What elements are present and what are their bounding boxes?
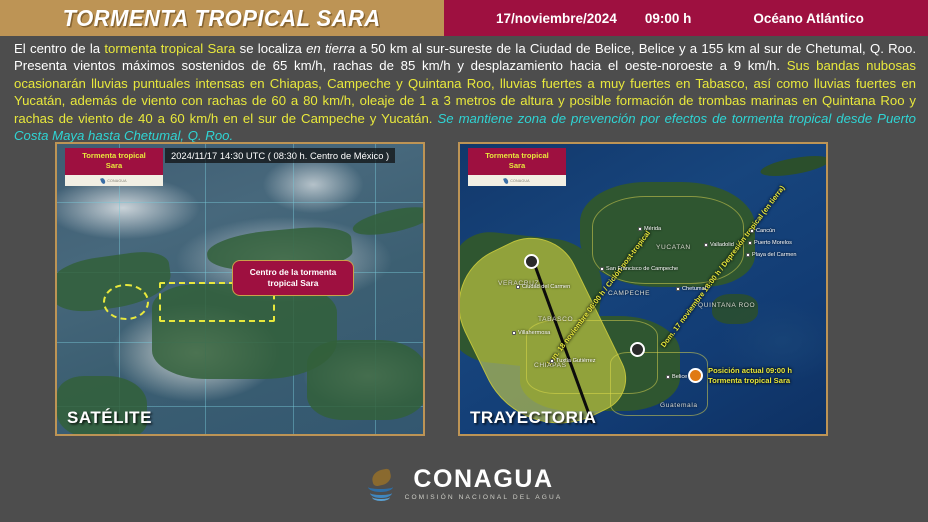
city-label-belice: Belice	[672, 374, 687, 380]
header-title-band: TORMENTA TROPICAL SARA	[0, 0, 444, 36]
city-label-valladolid: Valladolid	[710, 242, 734, 248]
trajectory-map: Lun. 18 noviembre 06:00 h / Ciclón post-…	[460, 144, 826, 434]
city-label-chetumal: Chetumal	[682, 286, 706, 292]
city-label-playa-del-carmen: Playa del Carmen	[752, 252, 796, 258]
satellite-panel[interactable]: Centro de la tormenta tropical Sara Torm…	[55, 142, 425, 436]
bulletin-text: El centro de la tormenta tropical Sara s…	[14, 40, 916, 144]
bulletin-segment-3: se localiza	[235, 41, 306, 56]
city-label-tuxtla-gutierrez: Tuxtla Gutiérrez	[556, 358, 596, 364]
bulletin-basin: Océano Atlántico	[753, 11, 864, 26]
current-position-line1: Posición actual 09:00 h	[708, 366, 792, 376]
footer-bar: CONAGUA COMISIÓN NACIONAL DEL AGUA	[0, 452, 928, 522]
forecast-node-tropical-depression	[630, 342, 645, 357]
satellite-badge-org: CONAGUA	[107, 179, 127, 183]
water-drop-icon	[503, 177, 509, 184]
current-position-line2: Tormenta tropical Sara	[708, 376, 792, 386]
current-position-node	[688, 368, 703, 383]
city-label-san-francisco-de-campeche: San Francisco de Campeche	[606, 266, 678, 272]
forecast-node-post-tropical	[524, 254, 539, 269]
region-label-quintana-roo: QUINTANA ROO	[698, 302, 755, 309]
bulletin-date: 17/noviembre/2024	[496, 11, 617, 26]
satellite-caption: SATÉLITE	[67, 408, 152, 428]
conagua-logo-subtitle: COMISIÓN NACIONAL DEL AGUA	[405, 494, 563, 501]
conagua-logo-name: CONAGUA	[413, 466, 553, 493]
trajectory-badge-org: CONAGUA	[510, 179, 530, 183]
region-label-tabasco: TABASCO	[538, 316, 573, 323]
trajectory-caption: TRAYECTORIA	[470, 408, 596, 428]
conagua-emblem-icon	[366, 466, 396, 500]
bulletin-storm-name: tormenta tropical Sara	[104, 41, 235, 56]
city-label-cancun: Cancún	[756, 228, 775, 234]
header-info-band: 17/noviembre/2024 09:00 h Océano Atlánti…	[444, 0, 928, 36]
trajectory-badge-line1: Tormenta tropical	[470, 151, 564, 161]
bulletin-location-emphasis: en tierra	[306, 41, 355, 56]
trajectory-badge-line2: Sara	[470, 161, 564, 171]
page-title: TORMENTA TROPICAL SARA	[63, 5, 381, 32]
satellite-badge-line2: Sara	[67, 161, 161, 171]
city-label-villahermosa: Villahermosa	[518, 330, 550, 336]
weather-bulletin-page: TORMENTA TROPICAL SARA 17/noviembre/2024…	[0, 0, 928, 522]
city-label-puerto-morelos: Puerto Morelos	[754, 240, 792, 246]
trajectory-storm-badge: Tormenta tropical Sara CONAGUA	[468, 148, 566, 186]
conagua-logo: CONAGUA COMISIÓN NACIONAL DEL AGUA	[366, 466, 563, 501]
map-panels: Centro de la tormenta tropical Sara Torm…	[0, 142, 928, 444]
satellite-storm-badge: Tormenta tropical Sara CONAGUA	[65, 148, 163, 186]
city-label-ciudad-del-carmen: Ciudad del Carmen	[522, 284, 570, 290]
storm-center-callout: Centro de la tormenta tropical Sara	[232, 260, 354, 296]
satellite-timestamp: 2024/11/17 14:30 UTC ( 08:30 h. Centro d…	[165, 148, 395, 163]
region-label-yucatan: YUCATAN	[656, 244, 691, 251]
storm-center-circle	[103, 284, 149, 320]
bulletin-time: 09:00 h	[645, 11, 692, 26]
water-drop-icon	[100, 177, 106, 184]
header-bar: TORMENTA TROPICAL SARA 17/noviembre/2024…	[0, 0, 928, 36]
city-label-merida: Mérida	[644, 226, 661, 232]
bulletin-segment-1: El centro de la	[14, 41, 104, 56]
trajectory-panel[interactable]: Lun. 18 noviembre 06:00 h / Ciclón post-…	[458, 142, 828, 436]
region-label-guatemala: Guatemala	[660, 402, 698, 409]
satellite-badge-line1: Tormenta tropical	[67, 151, 161, 161]
region-label-campeche: CAMPECHE	[608, 290, 650, 297]
